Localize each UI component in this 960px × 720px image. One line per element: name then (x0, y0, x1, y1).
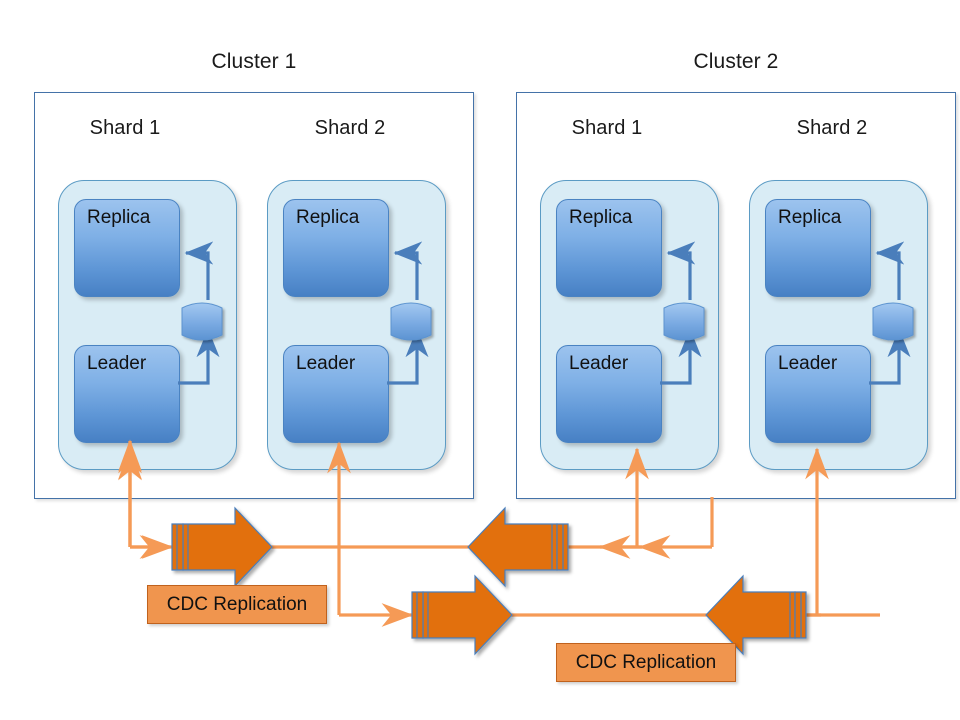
node-c1-s2-leader[interactable]: Leader (283, 345, 389, 443)
shard-title-c2-s2: Shard 2 (787, 117, 877, 140)
node-c2-s1-replica[interactable]: Replica (556, 199, 662, 297)
cdc-arrow-right-top (172, 508, 272, 586)
node-label: Leader (557, 346, 628, 375)
cdc-label-text: CDC Replication (167, 594, 307, 616)
node-label: Replica (557, 200, 632, 229)
cdc-arrow-right-bottom (412, 576, 512, 654)
node-label: Leader (75, 346, 146, 375)
node-c1-s1-leader[interactable]: Leader (74, 345, 180, 443)
node-c1-s2-replica[interactable]: Replica (283, 199, 389, 297)
cdc-arrow-left-top (468, 508, 568, 586)
node-label: Leader (284, 346, 355, 375)
node-c2-s2-leader[interactable]: Leader (765, 345, 871, 443)
shard-title-c1-s1: Shard 1 (80, 117, 170, 140)
cdc-label-box-top[interactable]: CDC Replication (147, 585, 327, 624)
shard-title-c2-s1: Shard 1 (562, 117, 652, 140)
cluster-title-2: Cluster 2 (686, 50, 786, 74)
cdc-label-text: CDC Replication (576, 652, 716, 674)
shard-title-c1-s2: Shard 2 (305, 117, 395, 140)
cdc-label-box-bottom[interactable]: CDC Replication (556, 643, 736, 682)
diagram-canvas: Cluster 1 Cluster 2 Shard 1 Shard 2 Repl… (0, 0, 960, 720)
node-label: Replica (766, 200, 841, 229)
node-label: Replica (284, 200, 359, 229)
cluster-title-1: Cluster 1 (204, 50, 304, 74)
node-label: Leader (766, 346, 837, 375)
node-label: Replica (75, 200, 150, 229)
node-c2-s2-replica[interactable]: Replica (765, 199, 871, 297)
node-c1-s1-replica[interactable]: Replica (74, 199, 180, 297)
node-c2-s1-leader[interactable]: Leader (556, 345, 662, 443)
